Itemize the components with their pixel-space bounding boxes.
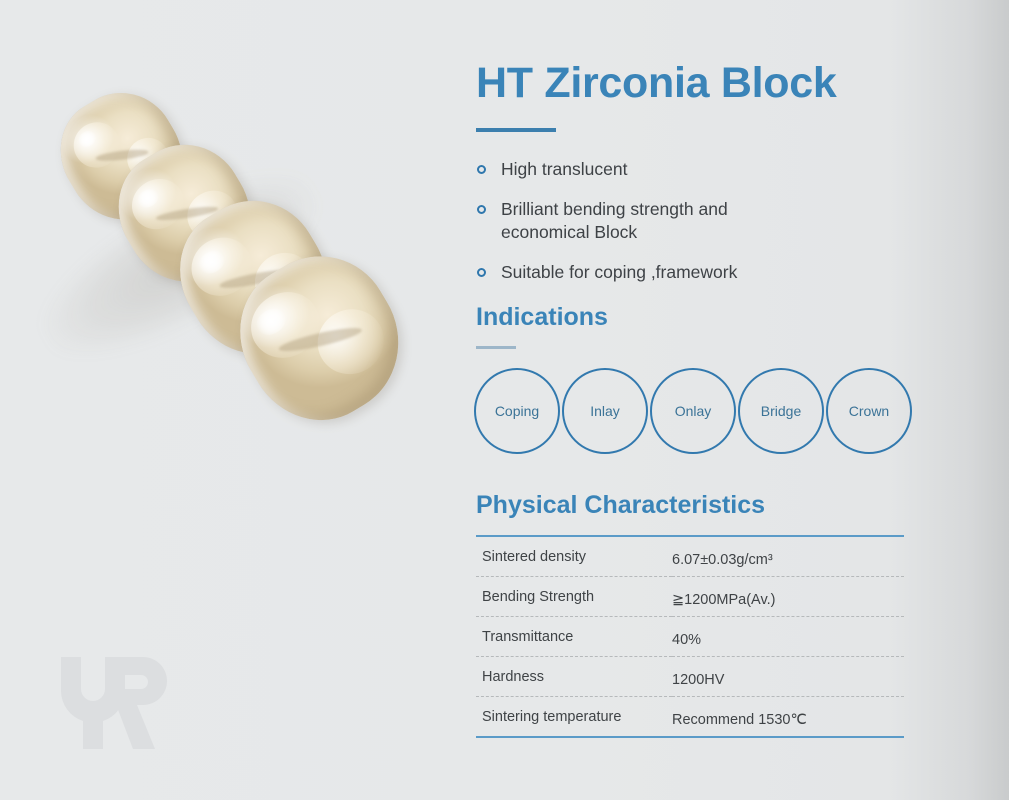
- feature-list-item: Suitable for coping ,framework: [476, 261, 811, 284]
- property-value: Recommend 1530℃: [672, 697, 904, 738]
- property-name: Transmittance: [476, 617, 672, 657]
- property-name: Hardness: [476, 657, 672, 697]
- ring-bullet-icon: [477, 268, 486, 277]
- property-value: 40%: [672, 617, 904, 657]
- feature-list-item: High translucent: [476, 158, 811, 181]
- indication-label: Crown: [849, 403, 889, 419]
- feature-text: High translucent: [501, 159, 627, 179]
- property-value: ≧1200MPa(Av.): [672, 577, 904, 617]
- property-name: Bending Strength: [476, 577, 672, 617]
- product-details-panel: HT Zirconia Block High translucent Brill…: [476, 0, 946, 800]
- indication-circle-inlay[interactable]: Inlay: [562, 368, 648, 454]
- ring-bullet-icon: [477, 205, 486, 214]
- indications-circle-row: Coping Inlay Onlay Bridge Crown: [474, 368, 946, 454]
- product-spec-sheet: HT Zirconia Block High translucent Brill…: [0, 0, 1009, 800]
- feature-list-item: Brilliant bending strength and economica…: [476, 198, 811, 245]
- indication-circle-bridge[interactable]: Bridge: [738, 368, 824, 454]
- property-name: Sintered density: [476, 536, 672, 577]
- physical-characteristics-table: Sintered density 6.07±0.03g/cm³ Bending …: [476, 535, 904, 738]
- ring-bullet-icon: [477, 165, 486, 174]
- yr-watermark-logo: [55, 645, 167, 753]
- table-row: Transmittance 40%: [476, 617, 904, 657]
- property-value: 1200HV: [672, 657, 904, 697]
- table-row: Sintered density 6.07±0.03g/cm³: [476, 536, 904, 577]
- indication-circle-crown[interactable]: Crown: [826, 368, 912, 454]
- page-title: HT Zirconia Block: [476, 0, 946, 106]
- table-row: Hardness 1200HV: [476, 657, 904, 697]
- tooth-cusp: [65, 114, 128, 176]
- feature-text: Suitable for coping ,framework: [501, 262, 737, 282]
- indication-label: Inlay: [590, 403, 620, 419]
- feature-text: Brilliant bending strength and economica…: [501, 199, 728, 242]
- zirconia-dental-bridge-image: [58, 88, 388, 388]
- property-value: 6.07±0.03g/cm³: [672, 536, 904, 577]
- indications-underline-rule: [476, 346, 516, 349]
- tooth-cusp: [123, 170, 193, 239]
- product-image-panel: [0, 0, 460, 800]
- feature-list: High translucent Brilliant bending stren…: [476, 158, 946, 284]
- table-row: Bending Strength ≧1200MPa(Av.): [476, 577, 904, 617]
- indication-circle-coping[interactable]: Coping: [474, 368, 560, 454]
- indication-circle-onlay[interactable]: Onlay: [650, 368, 736, 454]
- indication-label: Onlay: [675, 403, 712, 419]
- indication-label: Bridge: [761, 403, 801, 419]
- indications-heading: Indications: [476, 304, 946, 332]
- physical-characteristics-heading: Physical Characteristics: [476, 492, 946, 520]
- title-underline-rule: [476, 128, 556, 132]
- indication-label: Coping: [495, 403, 539, 419]
- property-name: Sintering temperature: [476, 697, 672, 738]
- tooth-cusp: [239, 280, 332, 371]
- table-row: Sintering temperature Recommend 1530℃: [476, 697, 904, 738]
